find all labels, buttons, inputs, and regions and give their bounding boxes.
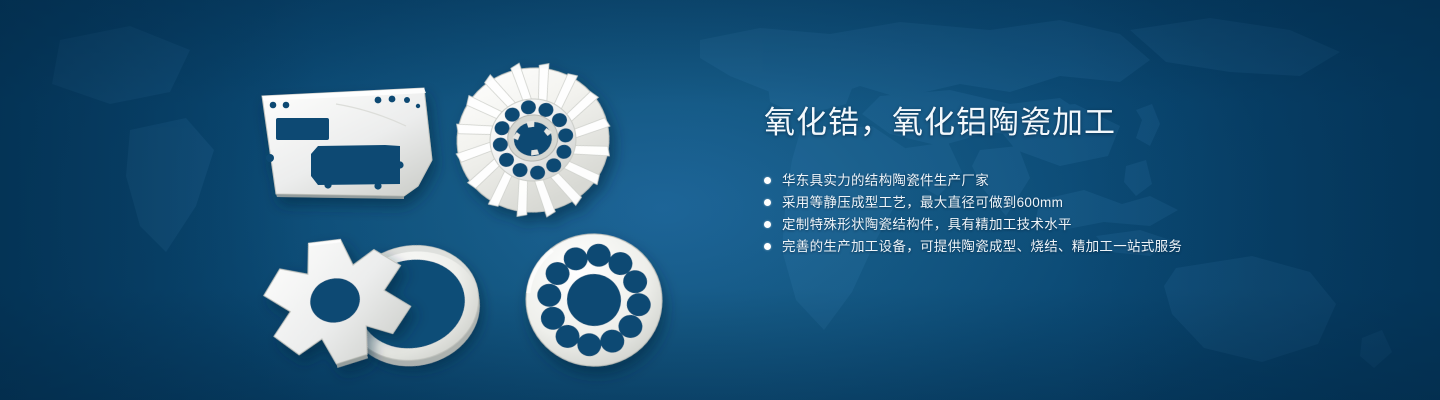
list-item: 定制特殊形状陶瓷结构件，具有精加工技术水平 — [764, 214, 1404, 236]
feature-list: 华东具实力的结构陶瓷件生产厂家 采用等静压成型工艺，最大直径可做到600mm 定… — [764, 170, 1404, 258]
list-item: 采用等静压成型工艺，最大直径可做到600mm — [764, 192, 1404, 214]
promo-banner: 氧化锆，氧化铝陶瓷加工 华东具实力的结构陶瓷件生产厂家 采用等静压成型工艺，最大… — [0, 0, 1440, 400]
bullet-dot-icon — [764, 177, 771, 184]
ceramic-perforated-disc-part — [519, 227, 668, 372]
ceramic-plate-part — [262, 88, 432, 199]
bullet-dot-icon — [764, 199, 771, 206]
list-item-label: 定制特殊形状陶瓷结构件，具有精加工技术水平 — [782, 214, 1072, 236]
ceramic-products-image — [0, 0, 760, 400]
list-item-label: 完善的生产加工设备，可提供陶瓷成型、烧结、精加工一站式服务 — [782, 236, 1182, 258]
list-item: 完善的生产加工设备，可提供陶瓷成型、烧结、精加工一站式服务 — [764, 236, 1404, 258]
list-item-label: 采用等静压成型工艺，最大直径可做到600mm — [782, 192, 1063, 214]
page-title: 氧化锆，氧化铝陶瓷加工 — [764, 104, 1404, 143]
bullet-dot-icon — [764, 221, 771, 228]
banner-text-column: 氧化锆，氧化铝陶瓷加工 华东具实力的结构陶瓷件生产厂家 采用等静压成型工艺，最大… — [764, 104, 1404, 258]
list-item-label: 华东具实力的结构陶瓷件生产厂家 — [782, 170, 989, 192]
ceramic-impeller-part — [445, 52, 621, 228]
bullet-dot-icon — [764, 243, 771, 250]
list-item: 华东具实力的结构陶瓷件生产厂家 — [764, 170, 1404, 192]
